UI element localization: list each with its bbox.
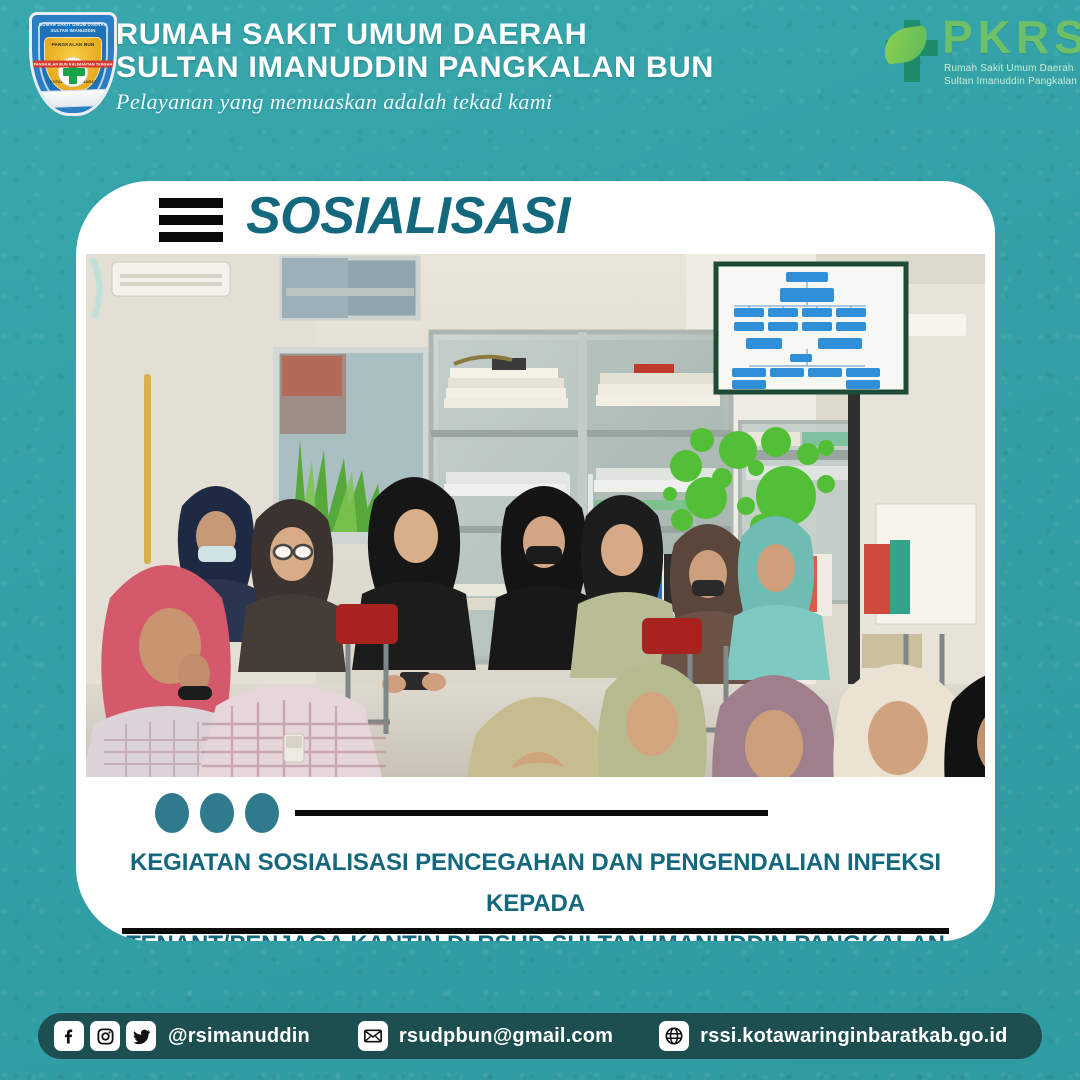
caption-rule-bottom <box>122 928 949 934</box>
twitter-icon[interactable] <box>126 1021 156 1051</box>
pkrs-logo: PKRS Rumah Sakit Umum Daerah Sultan Iman… <box>886 18 1066 88</box>
hamburger-bar-2 <box>159 215 223 225</box>
pkrs-subtitle-line2: Sultan Imanuddin Pangkalan Bun <box>944 75 1080 88</box>
pkrs-subtitle: Rumah Sakit Umum Daerah Sultan Imanuddin… <box>944 62 1080 88</box>
crest-ribbon-label: PANGKALAN BUN KALIMANTAN TENGAH <box>29 61 117 68</box>
facebook-icon[interactable] <box>54 1021 84 1051</box>
crest-ribbon <box>34 89 112 109</box>
website-text[interactable]: rssi.kotawaringinbaratkab.go.id <box>700 1025 1007 1048</box>
pkrs-cross-mark-icon <box>886 20 938 82</box>
instagram-icon[interactable] <box>90 1021 120 1051</box>
pkrs-mark-swoosh <box>882 25 930 65</box>
poster-header: RUMAH SAKIT UMUM DAERAH SULTAN IMANUDDIN… <box>0 0 1080 140</box>
crest-top-text-line2: SULTAN IMANUDDIN <box>32 28 114 34</box>
decorative-dot-2 <box>200 793 234 833</box>
hospital-name-line1: RUMAH SAKIT UMUM DAERAH <box>116 18 714 51</box>
email-contact-group: rsudpbun@gmail.com <box>358 1021 613 1051</box>
crest-top-text: RUMAH SAKIT UMUM DAERAH SULTAN IMANUDDIN <box>32 22 114 33</box>
decorative-dots-row <box>76 793 995 837</box>
event-caption-line1: KEGIATAN SOSIALISASI PENCEGAHAN DAN PENG… <box>102 842 969 924</box>
decorative-dot-1 <box>155 793 189 833</box>
crest-shield: RUMAH SAKIT UMUM DAERAH SULTAN IMANUDDIN… <box>29 12 117 116</box>
hamburger-bar-1 <box>159 198 223 208</box>
website-contact-group: rssi.kotawaringinbaratkab.go.id <box>659 1021 1007 1051</box>
social-handle-text[interactable]: @rsimanuddin <box>168 1025 310 1048</box>
decorative-dot-3 <box>245 793 279 833</box>
pkrs-subtitle-line1: Rumah Sakit Umum Daerah <box>944 62 1080 75</box>
envelope-icon[interactable] <box>358 1021 388 1051</box>
hospital-tagline: Pelayanan yang memuaskan adalah tekad ka… <box>116 89 702 115</box>
caption-rule-top <box>295 810 768 816</box>
email-text[interactable]: rsudpbun@gmail.com <box>399 1025 613 1048</box>
crest-top-text-line1: RUMAH SAKIT UMUM DAERAH <box>32 22 114 28</box>
card-title-row: SOSIALISASI <box>76 181 995 254</box>
hamburger-bar-3 <box>159 232 223 242</box>
crest-band-text: PANGKALAN BUN <box>45 41 101 49</box>
hospital-name-line2: SULTAN IMANUDDIN PANGKALAN BUN <box>116 51 714 84</box>
event-photo-illustration <box>86 254 985 777</box>
poster-canvas: RUMAH SAKIT UMUM DAERAH SULTAN IMANUDDIN… <box>0 0 1080 1080</box>
content-card: SOSIALISASI <box>76 181 995 941</box>
hamburger-icon <box>159 198 223 242</box>
page-title: SOSIALISASI <box>246 186 570 246</box>
hospital-name-block: RUMAH SAKIT UMUM DAERAH SULTAN IMANUDDIN… <box>116 18 702 115</box>
globe-icon[interactable] <box>659 1021 689 1051</box>
pkrs-wordmark: PKRS <box>942 14 1080 60</box>
social-contact-group: @rsimanuddin <box>54 1021 310 1051</box>
hospital-crest-logo: RUMAH SAKIT UMUM DAERAH SULTAN IMANUDDIN… <box>29 12 117 116</box>
event-caption: KEGIATAN SOSIALISASI PENCEGAHAN DAN PENG… <box>76 842 995 941</box>
cross-horizontal-bar <box>63 68 85 76</box>
event-photo <box>86 254 985 777</box>
contact-footer-bar: @rsimanuddin rsudpbun@gmail.com rssi <box>38 1013 1042 1059</box>
